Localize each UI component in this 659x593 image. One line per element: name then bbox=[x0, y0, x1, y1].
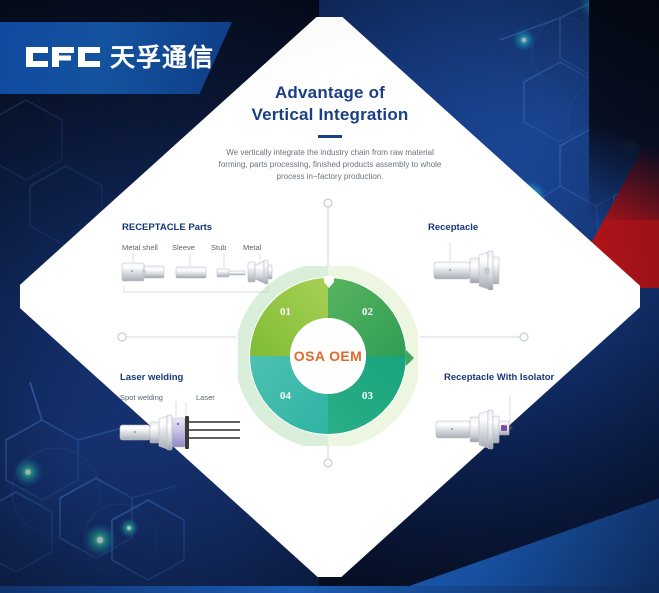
page-description: We vertically integrate the industry cha… bbox=[211, 147, 449, 184]
section-title-receptacle-with-isolator: Receptacle With Isolator bbox=[444, 372, 554, 383]
donut-label-01: 01 bbox=[280, 306, 291, 318]
section-title-receptacle: Receptacle bbox=[428, 222, 478, 233]
page-title: Advantage of Vertical Integration bbox=[180, 82, 480, 126]
laser-welding-diagram bbox=[116, 402, 246, 458]
receptacle-with-isolator-diagram bbox=[432, 395, 552, 457]
header-block: Advantage of Vertical Integration We ver… bbox=[180, 82, 480, 184]
part-label-sleeve: Sleeve bbox=[172, 243, 195, 252]
cfc-logo-mark bbox=[24, 44, 102, 70]
section-title-receptacle-parts: RECEPTACLE Parts bbox=[122, 222, 212, 233]
donut-label-04: 04 bbox=[280, 390, 291, 402]
page-title-line1: Advantage of bbox=[180, 82, 480, 104]
part-label-metal-shell: Metal shell bbox=[122, 243, 158, 252]
part-label-stub: Stub bbox=[211, 243, 226, 252]
receptacle-parts-diagram bbox=[118, 252, 274, 298]
title-divider bbox=[318, 135, 342, 138]
section-title-laser-welding: Laser welding bbox=[120, 372, 183, 383]
brand-logo-chinese: 天孚通信 bbox=[110, 45, 214, 70]
donut-label-03: 03 bbox=[362, 390, 373, 402]
part-label-spot-welding: Spot welding bbox=[120, 393, 163, 402]
part-label-laser: Laser bbox=[196, 393, 215, 402]
slide-root: 天孚通信 Advantage of Vertical Integration W… bbox=[0, 0, 659, 593]
bottom-edge-bar bbox=[0, 586, 659, 593]
receptacle-diagram bbox=[428, 240, 538, 300]
part-label-metal: Metal bbox=[243, 243, 261, 252]
donut-label-02: 02 bbox=[362, 306, 373, 318]
page-title-line2: Vertical Integration bbox=[180, 104, 480, 126]
